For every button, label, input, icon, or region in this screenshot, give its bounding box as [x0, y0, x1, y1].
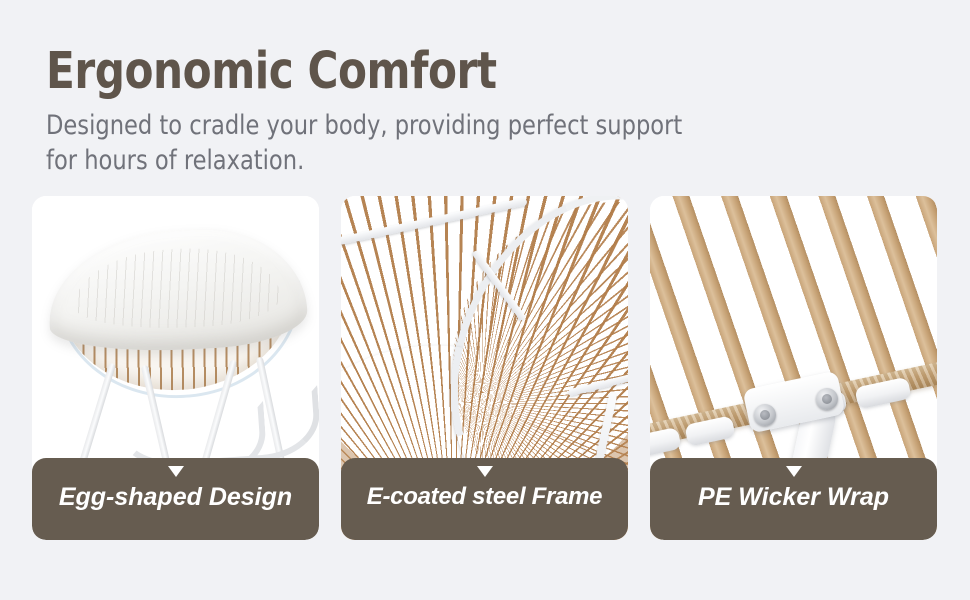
caption-bar: E-coated steel Frame — [341, 458, 628, 540]
triangle-down-icon — [786, 466, 802, 477]
triangle-down-icon — [168, 466, 184, 477]
feature-cards-row: Egg-shaped Design — [32, 196, 938, 540]
feature-card-egg-shaped-design[interactable]: Egg-shaped Design — [32, 196, 319, 540]
feature-card-pe-wicker-wrap[interactable]: PE Wicker Wrap — [650, 196, 937, 540]
caption-bar: PE Wicker Wrap — [650, 458, 937, 540]
product-feature-banner: Ergonomic Comfort Designed to cradle you… — [0, 0, 970, 600]
caption-label: E-coated steel Frame — [361, 481, 608, 513]
page-title: Ergonomic Comfort — [46, 44, 856, 100]
caption-label: PE Wicker Wrap — [692, 481, 895, 513]
caption-label: Egg-shaped Design — [53, 481, 298, 513]
subtitle-line-2: for hours of relaxation. — [46, 143, 855, 178]
headings-block: Ergonomic Comfort Designed to cradle you… — [46, 44, 926, 178]
caption-bar: Egg-shaped Design — [32, 458, 319, 540]
subtitle-line-1: Designed to cradle your body, providing … — [46, 108, 855, 143]
page-subtitle: Designed to cradle your body, providing … — [46, 108, 855, 178]
bolt-icon — [816, 388, 838, 410]
bolt-icon — [754, 404, 776, 426]
white-cushion — [45, 223, 309, 356]
feature-card-e-coated-steel-frame[interactable]: E-coated steel Frame — [341, 196, 628, 540]
triangle-down-icon — [477, 466, 493, 477]
